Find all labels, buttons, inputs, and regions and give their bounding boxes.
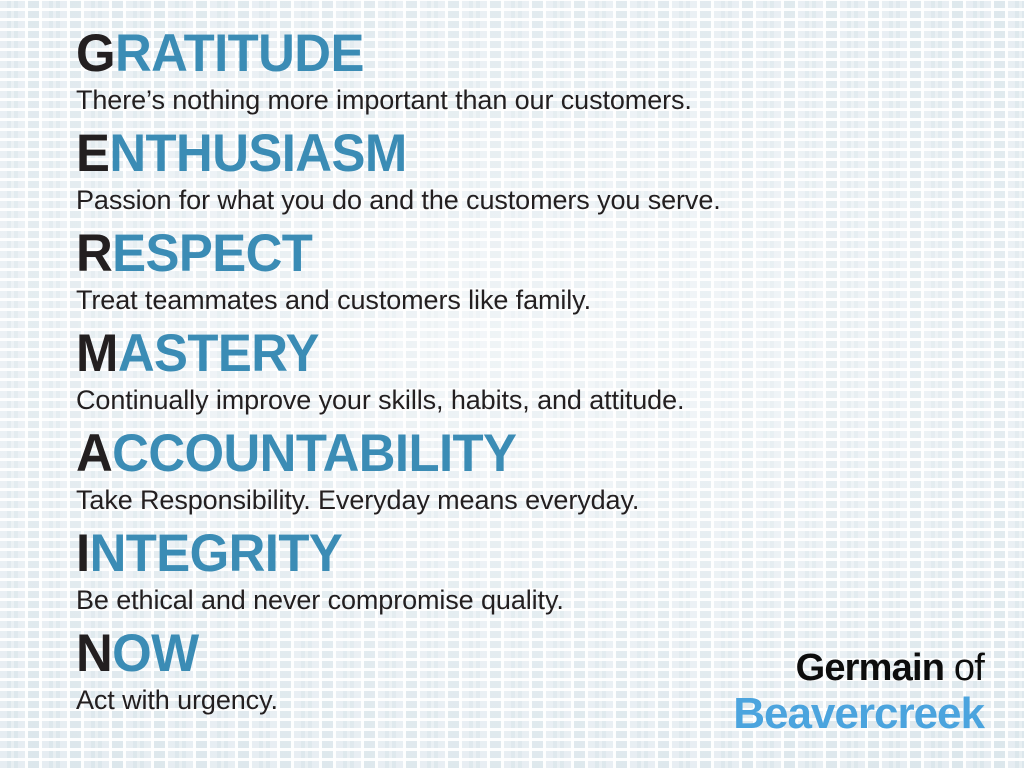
- value-row: RESPECT Treat teammates and customers li…: [76, 228, 976, 328]
- value-heading-rest: RATITUDE: [115, 24, 364, 83]
- value-description: Be ethical and never compromise quality.: [76, 583, 976, 617]
- value-heading-rest: NTEGRITY: [90, 524, 343, 583]
- logo-brand-name: Germain: [796, 647, 945, 689]
- logo-line-primary: Germain of: [733, 647, 984, 689]
- value-heading: ENTHUSIASM: [76, 128, 940, 180]
- value-heading-rest: NTHUSIASM: [109, 124, 406, 183]
- value-heading-rest: OW: [112, 624, 198, 683]
- value-heading: RESPECT: [76, 228, 940, 280]
- value-initial-letter: E: [76, 124, 109, 183]
- values-list: GRATITUDE There’s nothing more important…: [76, 28, 976, 728]
- value-row: ACCOUNTABILITY Take Responsibility. Ever…: [76, 428, 976, 528]
- value-initial-letter: R: [76, 224, 112, 283]
- values-slide: GRATITUDE There’s nothing more important…: [0, 0, 1024, 768]
- value-row: ENTHUSIASM Passion for what you do and t…: [76, 128, 976, 228]
- value-description: There’s nothing more important than our …: [76, 83, 976, 117]
- value-description: Treat teammates and customers like famil…: [76, 283, 976, 317]
- value-description: Continually improve your skills, habits,…: [76, 383, 976, 417]
- value-initial-letter: I: [76, 524, 90, 583]
- dealership-logo: Germain of Beavercreek: [733, 647, 984, 738]
- value-heading-rest: ASTERY: [118, 324, 319, 383]
- value-initial-letter: A: [76, 424, 112, 483]
- logo-connector: of: [944, 647, 984, 689]
- value-description: Take Responsibility. Everyday means ever…: [76, 483, 976, 517]
- logo-location: Beavercreek: [733, 690, 984, 738]
- value-heading-rest: ESPECT: [112, 224, 312, 283]
- value-heading: INTEGRITY: [76, 528, 940, 580]
- value-heading: MASTERY: [76, 328, 940, 380]
- value-initial-letter: M: [76, 324, 118, 383]
- value-heading: ACCOUNTABILITY: [76, 428, 940, 480]
- value-heading-rest: CCOUNTABILITY: [112, 424, 516, 483]
- value-row: MASTERY Continually improve your skills,…: [76, 328, 976, 428]
- value-heading: GRATITUDE: [76, 28, 940, 80]
- value-description: Passion for what you do and the customer…: [76, 183, 976, 217]
- value-initial-letter: G: [76, 24, 115, 83]
- value-row: GRATITUDE There’s nothing more important…: [76, 28, 976, 128]
- value-initial-letter: N: [76, 624, 112, 683]
- value-row: INTEGRITY Be ethical and never compromis…: [76, 528, 976, 628]
